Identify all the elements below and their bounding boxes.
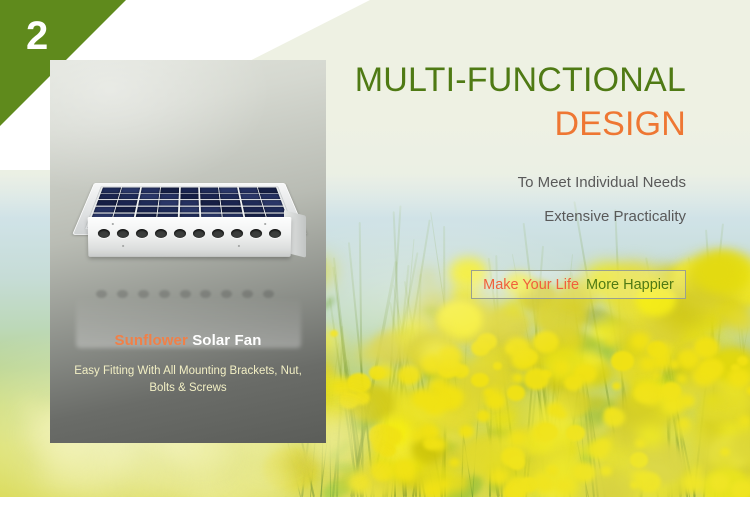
solar-cell [139,194,159,200]
background-blossom [512,350,535,369]
solar-cell [117,200,138,206]
background-blossom [572,465,581,473]
reflected-vent [200,290,211,298]
screw-icon [122,245,124,247]
background-blossom [393,460,415,479]
reflected-vent [242,290,253,298]
background-blossom [490,469,509,485]
solar-cell [160,194,179,200]
background-blossom [597,438,611,450]
background-blossom [676,374,687,383]
solar-cell [219,188,238,193]
fan-vent-row [98,227,281,239]
subtitle-line-1: To Meet Individual Needs [330,172,690,194]
background-blossom [357,343,383,364]
solar-cell [200,188,219,193]
background-blossom [235,460,280,494]
product-card: Sunflower Solar Fan Easy Fitting With Al… [50,60,326,443]
cta-text-secondary: More Happier [586,277,674,293]
background-blossom [534,474,547,485]
fan-vent-hole [250,229,262,238]
background-blossom [737,356,748,365]
background-blossom [603,408,626,427]
solar-cell [241,200,262,206]
solar-cell [180,188,198,193]
background-blossom [546,465,559,476]
solar-cell [243,207,264,213]
solar-cell [221,200,241,206]
screw-icon [264,223,266,225]
background-blossom [556,410,567,419]
fan-housing-front [88,217,292,257]
fan-vent-hole [98,229,110,238]
solar-cell [180,194,199,200]
background-blossom [630,332,651,350]
background-blossom [371,462,393,480]
background-blossom [507,385,526,401]
solar-cell [119,194,139,200]
fan-vent-hole [117,229,129,238]
solar-cell [240,194,260,200]
background-blossom [421,271,435,282]
solar-cell [220,194,240,200]
fan-vent-hole [193,229,205,238]
background-blossom [411,430,424,441]
solar-cell [262,200,283,206]
cta-button[interactable]: Make Your Life More Happier [471,270,686,299]
copy-block: MULTI-FUNCTIONAL DESIGN To Meet Individu… [330,60,690,228]
reflected-vent [221,290,232,298]
fan-vent-hole [231,229,243,238]
solar-cell [200,200,220,206]
background-blossom [746,386,750,396]
background-blossom [640,357,656,371]
solar-cell [115,207,136,213]
product-caption-subtitle: Easy Fitting With All Mounting Brackets,… [64,363,312,397]
caption-brand: Sunflower [115,332,188,349]
solar-cell [138,200,158,206]
solar-cell [222,207,243,213]
background-blossom [611,351,634,371]
background-blossom [412,389,434,408]
background-blossom [739,415,750,426]
solar-cell [201,207,221,213]
headline-line-1: MULTI-FUNCTIONAL [330,60,690,100]
background-blossom [564,375,583,391]
fan-vent-hole [174,229,186,238]
background-blossom [570,329,590,345]
background-blossom [688,432,724,461]
solar-cell [180,200,199,206]
solar-cell [101,188,121,193]
caption-product: Solar Fan [188,332,262,349]
background-blossom [506,345,515,353]
screw-icon [238,245,240,247]
background-blossom [501,447,525,467]
solar-cell [93,207,115,213]
background-blossom [652,372,661,379]
solar-cell [260,194,281,200]
cta-text-primary: Make Your Life [483,277,579,293]
solar-cell [136,207,157,213]
background-blossom [431,438,446,451]
banner-root: 2 Sunflower Solar Fan [0,0,750,507]
solar-cell [159,200,179,206]
background-blossom [487,395,504,410]
reflected-vent [117,290,128,298]
headline-line-2: DESIGN [330,104,690,144]
reflected-vent [263,290,274,298]
background-blossom [524,368,549,390]
background-blossom [459,425,474,437]
reflected-vent [96,290,107,298]
product-caption-title: Sunflower Solar Fan [50,332,326,349]
solar-fan-image [72,135,307,280]
reflected-vent [138,290,149,298]
solar-cell [200,194,219,200]
background-blossom [630,452,649,468]
solar-cell [179,207,199,213]
background-blossom [725,307,750,335]
solar-cell [96,200,117,206]
reflected-vent [180,290,191,298]
background-blossom [703,393,721,407]
fan-vent-hole [212,229,224,238]
solar-cell [264,207,286,213]
screw-icon [112,223,114,225]
background-blossom [437,301,482,337]
solar-cell [99,194,120,200]
background-blossom [728,368,750,387]
background-blossom [694,337,719,358]
background-blossom [471,340,490,356]
background-blossom [662,382,681,398]
reflected-vent [159,290,170,298]
solar-cell [258,188,278,193]
reflection-vents [96,290,274,300]
fan-vent-hole [155,229,167,238]
background-blossom [682,473,705,493]
background-blossom [449,458,459,467]
solar-cell [141,188,160,193]
background-blossom [580,447,589,455]
fan-vent-hole [269,229,281,238]
background-blossom [566,425,584,440]
bottom-white-strip [0,497,750,507]
solar-cell [121,188,141,193]
solar-cell [158,207,178,213]
background-blossom [690,251,742,292]
background-blossom [589,395,607,409]
solar-cell [239,188,259,193]
background-blossom [539,424,558,440]
background-blossom [612,382,621,390]
background-blossom [600,466,611,476]
solar-cell [160,188,179,193]
background-blossom [670,360,680,368]
background-blossom [477,410,491,422]
background-blossom [330,330,338,337]
subtitle-line-2: Extensive Practicality [330,206,690,228]
background-blossom [692,467,701,475]
background-blossom [374,364,394,381]
fan-vent-hole [136,229,148,238]
background-blossom [471,373,488,388]
background-blossom [553,360,569,374]
badge-number-label: 2 [26,16,74,56]
